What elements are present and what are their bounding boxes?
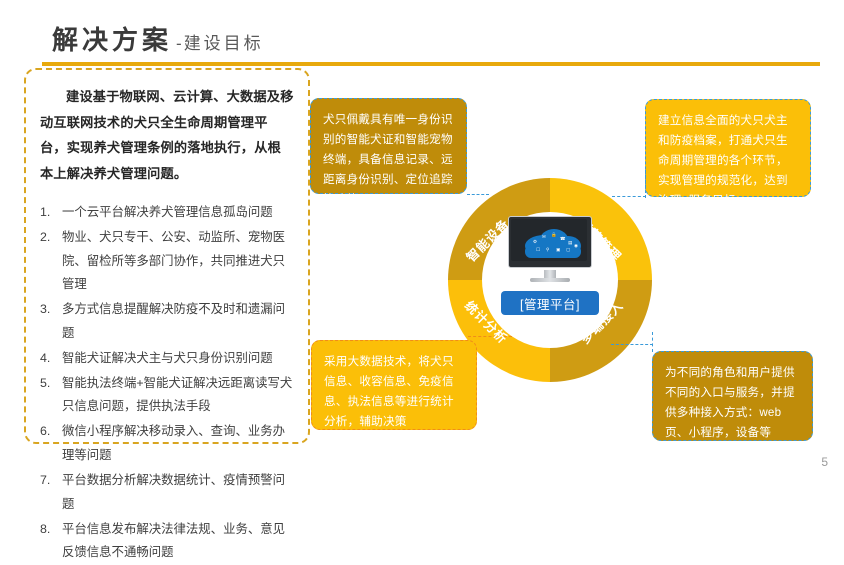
monitor-screen: ⚙ ✉ 🔒 ☎ ▤ ☐ ⚲ ▣ ▢ ◉: [511, 219, 587, 261]
connector-top-left: [467, 194, 489, 195]
folder-icon: ☐: [536, 249, 540, 254]
envelope-icon: ✉: [542, 236, 546, 241]
list-item: 7. 平台数据分析解决数据统计、疫情预警问题: [40, 469, 294, 517]
desktop-monitor-cloud-icon: ⚙ ✉ 🔒 ☎ ▤ ☐ ⚲ ▣ ▢ ◉: [508, 216, 592, 286]
page-title-separator: -: [176, 34, 182, 54]
document-icon: ▣: [556, 249, 560, 254]
list-item-label: 智能犬证解决犬主与犬只身份识别问题: [62, 351, 273, 365]
goals-text-panel: 建设基于物联网、云计算、大数据及移动互联网技术的犬只全生命周期管理平台，实现养犬…: [24, 68, 310, 444]
list-item-number: 8.: [40, 518, 58, 542]
list-item: 3. 多方式信息提醒解决防疫不及时和遗漏问题: [40, 298, 294, 346]
list-item: 8. 平台信息发布解决法律法规、业务、意见反馈信息不通畅问题: [40, 518, 294, 565]
callout-smart-devices[interactable]: 犬只佩戴具有唯一身份识别的智能犬证和智能宠物终端，具备信息记录、远距离身份识别、…: [310, 98, 467, 194]
list-item-number: 1.: [40, 201, 58, 225]
monitor-chin: [509, 267, 592, 268]
list-item-label: 多方式信息提醒解决防疫不及时和遗漏问题: [62, 302, 285, 340]
goals-list: 1. 一个云平台解决养犬管理信息孤岛问题 2. 物业、犬只专干、公安、动监所、宠…: [40, 201, 294, 565]
gear-icon: ⚙: [533, 241, 537, 246]
connector-bottom-right: [611, 344, 653, 345]
list-item-number: 2.: [40, 226, 58, 250]
page-title-main: 解决方案: [52, 20, 172, 57]
page-number: 5: [821, 455, 828, 469]
cart-icon: ⚲: [546, 249, 549, 254]
connector-top-right: [612, 196, 646, 197]
list-item-label: 平台信息发布解决法律法规、业务、意见反馈信息不通畅问题: [62, 522, 285, 560]
list-item-label: 微信小程序解决移动录入、查询、业务办理等问题: [62, 424, 285, 462]
list-item-number: 3.: [40, 298, 58, 322]
list-item: 2. 物业、犬只专干、公安、动监所、宠物医院、留检所等多部门协作，共同推进犬只管…: [40, 226, 294, 297]
chart-icon: ▤: [568, 242, 572, 247]
list-item: 4. 智能犬证解决犬主与犬只身份识别问题: [40, 347, 294, 371]
connector-bottom-right-vertical: [652, 332, 653, 352]
callout-multi-terminal-access[interactable]: 为不同的角色和用户提供不同的入口与服务，并提供多种接入方式：web页、小程序，设…: [652, 351, 813, 441]
list-item-number: 6.: [40, 420, 58, 444]
list-item-number: 4.: [40, 347, 58, 371]
list-item-number: 5.: [40, 372, 58, 396]
connector-top-right-vertical: [645, 170, 646, 198]
callout-statistical-analysis[interactable]: 采用大数据技术，将犬只信息、收容信息、免疫信息、执法信息等进行统计分析，辅助决策: [311, 340, 477, 430]
lock-icon: 🔒: [551, 234, 557, 239]
headset-icon: ◉: [574, 245, 578, 250]
list-item-number: 7.: [40, 469, 58, 493]
list-item: 6. 微信小程序解决移动录入、查询、业务办理等问题: [40, 420, 294, 468]
title-underline-rule: [42, 62, 820, 66]
list-item-label: 一个云平台解决养犬管理信息孤岛问题: [62, 205, 273, 219]
list-item-label: 物业、犬只专干、公安、动监所、宠物医院、留检所等多部门协作，共同推进犬只管理: [62, 230, 285, 292]
monitor-stand-foot: [530, 278, 570, 282]
page-title: 解决方案 - 建设目标: [52, 20, 452, 62]
goals-lead-paragraph: 建设基于物联网、云计算、大数据及移动互联网技术的犬只全生命周期管理平台，实现养犬…: [40, 84, 294, 187]
callout-standard-management[interactable]: 建立信息全面的犬只犬主和防疫档案，打通犬只生命周期管理的各个环节，实现管理的规范…: [645, 99, 811, 197]
cloud-icon-base: [525, 245, 581, 258]
list-item-label: 智能执法终端+智能犬证解决远距离读写犬只信息问题，提供执法手段: [62, 376, 292, 414]
list-item-label: 平台数据分析解决数据统计、疫情预警问题: [62, 473, 285, 511]
phone-icon: ☎: [560, 238, 566, 243]
monitor-bezel: ⚙ ✉ 🔒 ☎ ▤ ☐ ⚲ ▣ ▢ ◉: [508, 216, 592, 268]
database-icon: ▢: [566, 249, 570, 254]
list-item: 5. 智能执法终端+智能犬证解决远距离读写犬只信息问题，提供执法手段: [40, 372, 294, 420]
page-title-sub: 建设目标: [184, 29, 264, 54]
management-platform-button[interactable]: [管理平台]: [501, 291, 599, 315]
list-item: 1. 一个云平台解决养犬管理信息孤岛问题: [40, 201, 294, 225]
